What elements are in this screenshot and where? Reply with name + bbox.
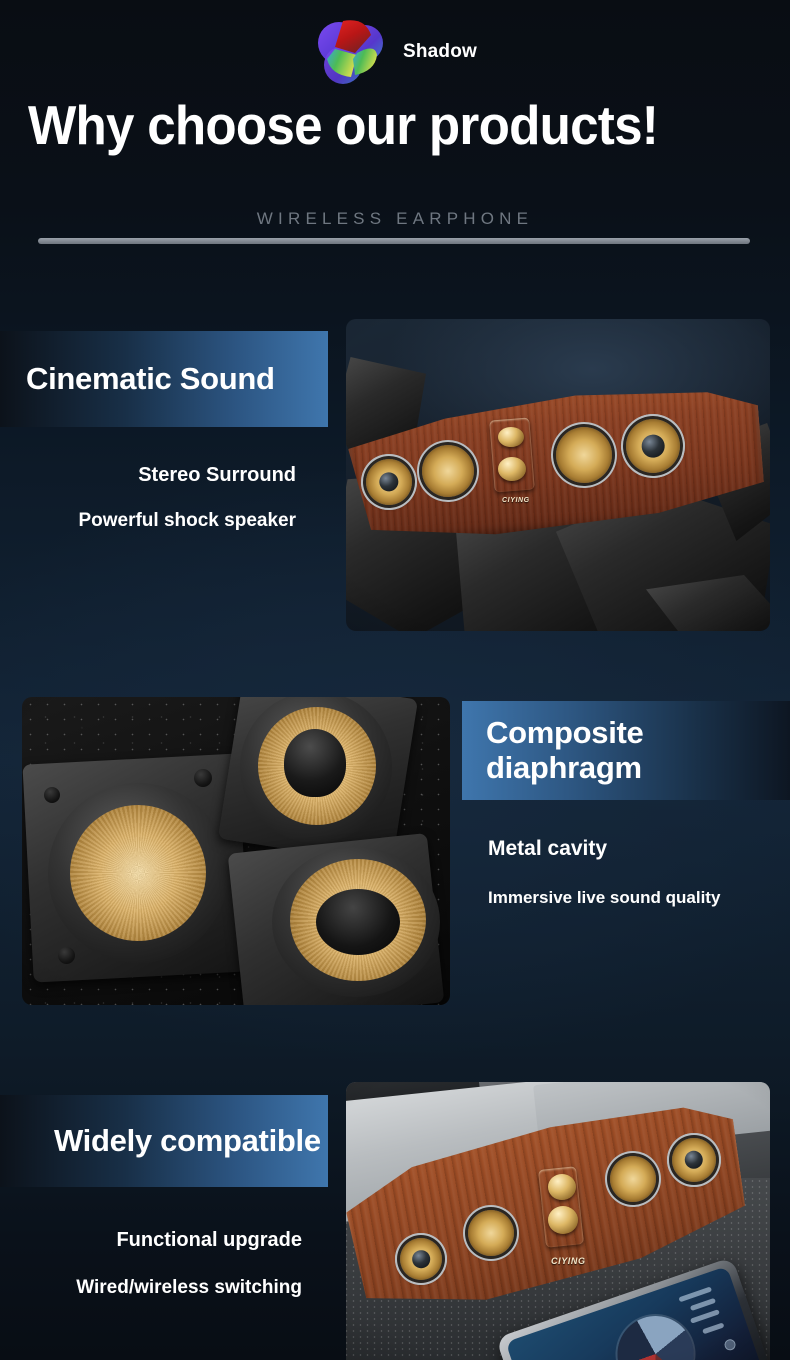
feature-title-bar-composite-diaphragm: Composite diaphragm: [462, 701, 790, 800]
speaker-drivers-photo: [22, 697, 450, 1005]
feature-bullets-widely-compatible: Functional upgrade Wired/wireless switch…: [0, 1230, 302, 1297]
soundbar-with-laptop-and-phone-photo: CIYING: [346, 1082, 770, 1360]
product-feature-page: Shadow Why choose our products! WIRELESS…: [0, 0, 790, 1360]
feature-bullet-primary: Stereo Surround: [0, 465, 296, 485]
brand-header: Shadow: [0, 8, 790, 90]
product-brandmark: CIYING: [551, 1256, 586, 1266]
product-brandmark: CIYING: [502, 497, 530, 504]
feature-bullet-primary: Metal cavity: [488, 838, 788, 859]
shadow-trilobe-logo-icon: [313, 13, 389, 85]
feature-title-cinematic-sound: Cinematic Sound: [26, 362, 275, 397]
feature-title-bar-cinematic-sound: Cinematic Sound: [0, 331, 328, 427]
feature-title-composite-diaphragm: Composite diaphragm: [486, 716, 643, 785]
brand-name: Shadow: [403, 42, 477, 61]
feature-title-widely-compatible: Widely compatible: [54, 1124, 321, 1159]
feature-bullets-composite-diaphragm: Metal cavity Immersive live sound qualit…: [488, 838, 788, 906]
feature-title-bar-widely-compatible: Widely compatible: [0, 1095, 328, 1187]
soundbar-on-coal-photo: CIYING: [346, 319, 770, 631]
feature-bullet-secondary: Powerful shock speaker: [0, 511, 296, 530]
feature-bullet-secondary: Wired/wireless switching: [0, 1278, 302, 1297]
feature-bullets-cinematic-sound: Stereo Surround Powerful shock speaker: [0, 465, 296, 530]
page-subtitle: WIRELESS EARPHONE: [0, 209, 790, 229]
header-divider: [38, 238, 750, 244]
feature-bullet-primary: Functional upgrade: [0, 1230, 302, 1250]
feature-bullet-secondary: Immersive live sound quality: [488, 889, 788, 906]
page-title: Why choose our products!: [28, 96, 716, 154]
